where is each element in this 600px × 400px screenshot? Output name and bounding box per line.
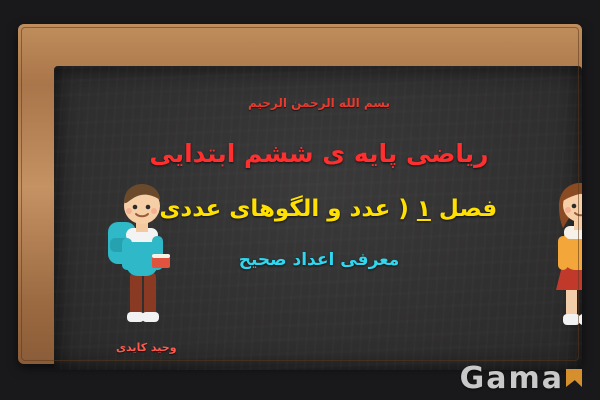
chapter-title: فصل ۱ ( عدد و الگوهای عددی )	[124, 195, 514, 224]
bismillah-line: بسم الله الرحمن الرحیم	[124, 96, 514, 110]
chapter-prefix: فصل	[431, 196, 497, 222]
slide-text-block: بسم الله الرحمن الرحیم ریاضی پایه ی ششم …	[124, 74, 514, 270]
boy-student-illustration	[102, 176, 172, 336]
watermark-text: Gama	[460, 364, 564, 394]
chalkboard-surface: بسم الله الرحمن الرحیم ریاضی پایه ی ششم …	[54, 66, 582, 370]
page-title: ریاضی پایه ی ششم ابتدایی	[124, 138, 514, 169]
girl-student-illustration	[544, 174, 582, 338]
boy-student-icon	[102, 176, 172, 336]
subtitle: معرفی اعداد صحیح	[124, 250, 514, 270]
chalkboard-frame: بسم الله الرحمن الرحیم ریاضی پایه ی ششم …	[18, 24, 582, 364]
chapter-number: ۱	[417, 196, 431, 222]
chapter-suffix: ( عدد و الگوهای عددی )	[141, 196, 417, 222]
bookmark-icon	[566, 369, 582, 387]
slide-canvas: بسم الله الرحمن الرحیم ریاضی پایه ی ششم …	[0, 0, 600, 400]
author-name: وحید کایدی	[116, 341, 177, 354]
watermark: Gama	[460, 364, 582, 394]
girl-student-icon	[544, 174, 582, 338]
